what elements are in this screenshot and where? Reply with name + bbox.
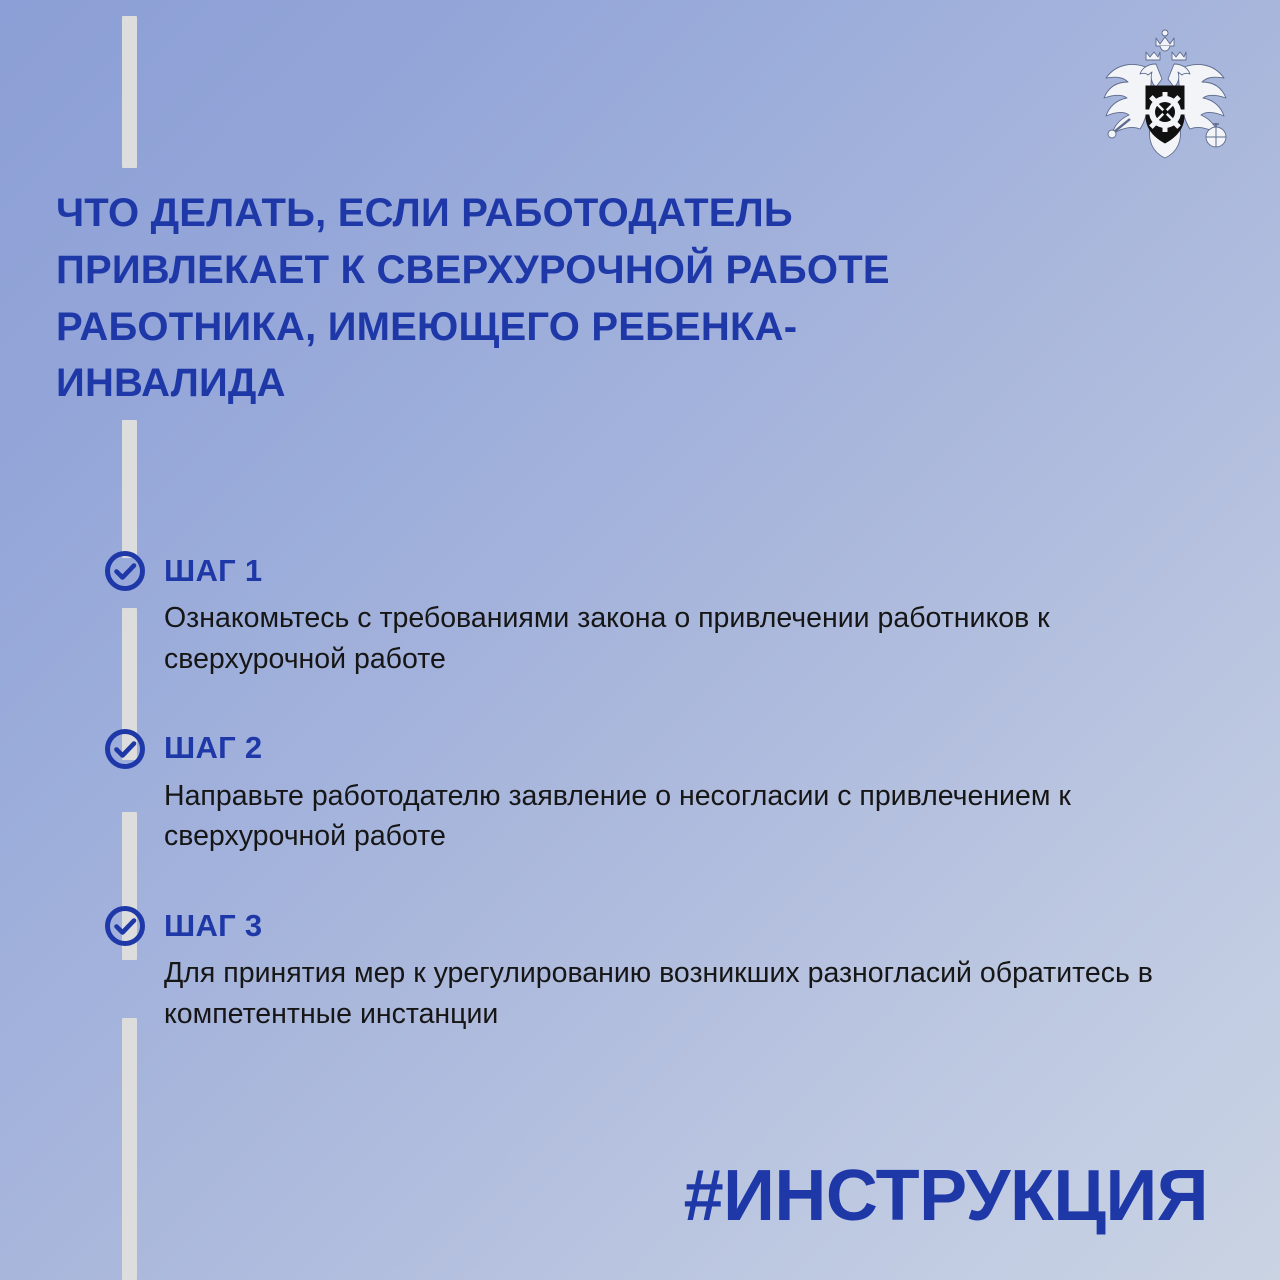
vertical-rail-segment <box>122 1018 137 1280</box>
vertical-rail-segment <box>122 420 137 558</box>
check-circle-icon <box>104 905 146 947</box>
step-header: ШАГ 1 <box>0 548 1280 592</box>
russian-federation-double-headed-eagle-labour-emblem <box>1090 24 1240 164</box>
check-circle-icon <box>104 728 146 770</box>
steps-list: ШАГ 1 Ознакомьтесь с требованиями закона… <box>0 548 1280 1035</box>
vertical-rail-segment <box>122 16 137 168</box>
step-item: ШАГ 2 Направьте работодателю заявление о… <box>0 726 1280 858</box>
page-title: ЧТО ДЕЛАТЬ, ЕСЛИ РАБОТОДАТЕЛЬ ПРИВЛЕКАЕТ… <box>56 185 956 412</box>
check-circle-icon <box>104 550 146 592</box>
step-header: ШАГ 2 <box>0 726 1280 770</box>
step-label: ШАГ 1 <box>164 555 262 586</box>
infographic-poster: ЧТО ДЕЛАТЬ, ЕСЛИ РАБОТОДАТЕЛЬ ПРИВЛЕКАЕТ… <box>0 0 1280 1280</box>
step-description: Направьте работодателю заявление о несог… <box>0 776 1280 858</box>
step-label: ШАГ 3 <box>164 910 262 941</box>
step-label: ШАГ 2 <box>164 732 262 763</box>
step-description: Для принятия мер к урегулированию возник… <box>0 953 1280 1035</box>
step-item: ШАГ 3 Для принятия мер к урегулированию … <box>0 903 1280 1035</box>
step-item: ШАГ 1 Ознакомьтесь с требованиями закона… <box>0 548 1280 680</box>
step-header: ШАГ 3 <box>0 903 1280 947</box>
hashtag-label: #ИНСТРУКЦИЯ <box>684 1160 1208 1232</box>
step-description: Ознакомьтесь с требованиями закона о при… <box>0 598 1280 680</box>
